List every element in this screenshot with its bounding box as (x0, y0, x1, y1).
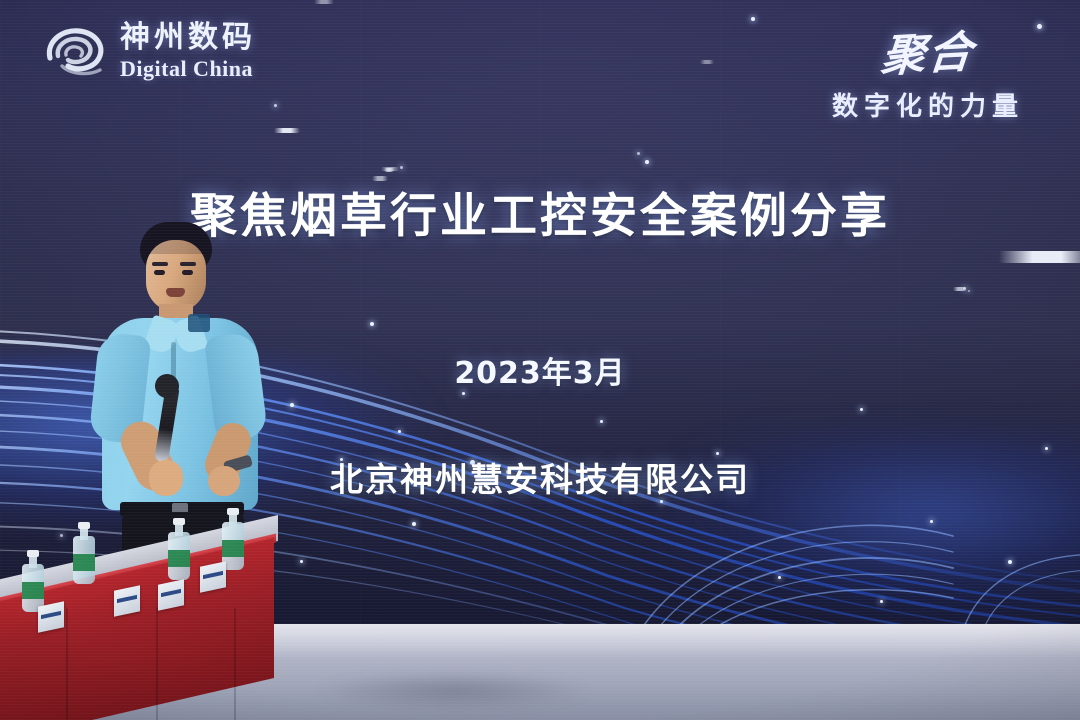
table-cloth-fold (234, 608, 236, 720)
event-logo-subtitle: 数字化的力量 (798, 86, 1058, 123)
event-logo-title: 聚合 (879, 16, 977, 85)
speaker-eye-left (154, 270, 165, 275)
table-cloth-fold (156, 608, 158, 720)
name-card (158, 579, 184, 611)
speaker-hand-left (149, 460, 183, 496)
speaker-chest-logo (188, 314, 210, 332)
table-cloth-fold (66, 608, 68, 720)
water-bottle (168, 518, 190, 580)
water-bottle (22, 550, 44, 612)
front-row-table (0, 560, 288, 720)
speaker-hand-right (208, 466, 240, 496)
bottle-label (222, 540, 244, 557)
bottle-label (73, 554, 95, 571)
brand-logo-digital-china: 神州数码 Digital China (44, 22, 256, 80)
bottle-label (22, 582, 44, 599)
bottle-cap (27, 550, 39, 557)
brand-name-cn: 神州数码 (120, 23, 256, 53)
bottle-cap (227, 508, 239, 515)
name-card (114, 585, 140, 617)
digital-china-swirl-icon (44, 22, 108, 80)
speaker-eye-right (182, 270, 193, 275)
brand-name-en: Digital China (120, 58, 256, 80)
speaker-mouth (166, 288, 185, 297)
speaker-brow-right (180, 262, 196, 266)
floor-shadow (259, 668, 648, 714)
event-logo: 聚合 数字化的力量 (798, 18, 1058, 123)
bottle-label (168, 550, 190, 567)
speaker-brow-left (152, 262, 168, 266)
speaker-hair-fringe (142, 232, 210, 254)
name-card (38, 601, 64, 633)
brand-logo-wordmark: 神州数码 Digital China (120, 23, 256, 80)
water-bottle (73, 522, 95, 584)
name-card (200, 561, 226, 593)
conference-stage-photo: 神州数码 Digital China 聚合 数字化的力量 聚焦烟草行业工控安全案… (0, 0, 1080, 720)
bottle-cap (173, 518, 185, 525)
bottle-cap (78, 522, 90, 529)
